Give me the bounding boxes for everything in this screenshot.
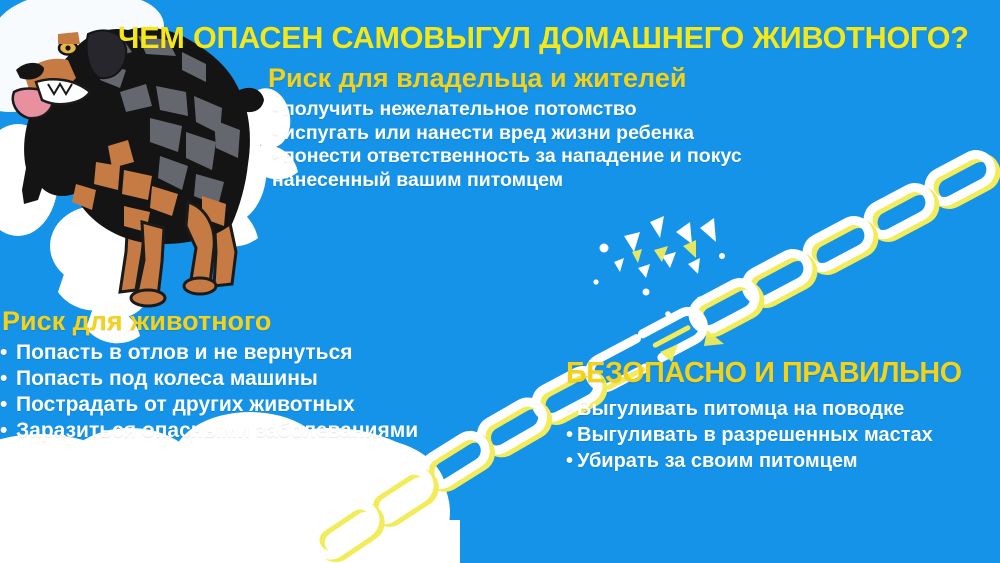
animal-section-heading: Риск для животного [2,307,271,335]
list-item: •Пострадать от других животных [0,392,418,418]
list-item: •испугать или нанести вред жизни ребенка [272,122,742,146]
list-item-label: Убирать за своим питомцем [577,450,858,472]
list-item-continuation: нанесенный вашим питомцем [272,169,742,193]
list-item-label: Попасть в отлов и не вернуться [16,341,353,364]
list-item-label: получить нежелательное потомство [283,98,637,120]
bullet-marker: • [0,366,16,392]
list-item: •Выгуливать питомца на поводке [566,396,933,422]
chain-break-upper [642,306,708,360]
list-item: •Убирать за своим питомцем [566,448,933,474]
list-item: •Выгуливать в разрешенных мастах [566,422,933,448]
list-item-label: Попасть под колеса машины [16,367,318,390]
bullet-marker: • [272,98,283,122]
list-item-label: Выгуливать питомца на поводке [577,398,904,420]
list-item-label: Пострадать от других животных [16,393,355,416]
list-item: •Попасть под колеса машины [0,366,418,392]
list-item-label: испугать или нанести вред жизни ребенка [283,122,694,144]
owner-risk-list: •получить нежелательное потомство •испуг… [272,98,742,192]
list-item: •получить нежелательное потомство [272,98,742,122]
page-title: ЧЕМ ОПАСЕН САМОВЫГУЛ ДОМАШНЕГО ЖИВОТНОГО… [118,22,985,55]
bullet-marker: • [272,145,283,169]
bullet-marker: • [566,422,577,448]
bullet-marker: • [566,396,577,422]
list-item-label: нанесенный вашим питомцем [272,169,563,191]
list-item: •Заразиться опасными заболеваниями [0,418,418,444]
list-item: •Попасть в отлов и не вернуться [0,340,418,366]
bullet-marker: • [0,392,16,418]
bullet-marker: • [0,340,16,366]
bullet-marker: • [566,448,577,474]
list-item: •понести ответственность за нападение и … [272,145,742,169]
infographic-poster: ЧЕМ ОПАСЕН САМОВЫГУЛ ДОМАШНЕГО ЖИВОТНОГО… [0,0,1000,563]
list-item-label: Заразиться опасными заболеваниями [16,419,418,442]
bullet-marker: • [272,122,283,146]
owner-section-heading: Риск для владельца и жителей [268,64,686,92]
list-item-label: Выгуливать в разрешенных мастах [577,424,933,446]
bullet-marker: • [0,418,16,444]
safe-practices-list: •Выгуливать питомца на поводке •Выгулива… [566,396,933,474]
list-item-label: понести ответственность за нападение и п… [283,145,742,167]
animal-risk-list: •Попасть в отлов и не вернуться •Попасть… [0,340,418,444]
safe-section-heading: БЕЗОПАСНО И ПРАВИЛЬНО [566,358,962,388]
